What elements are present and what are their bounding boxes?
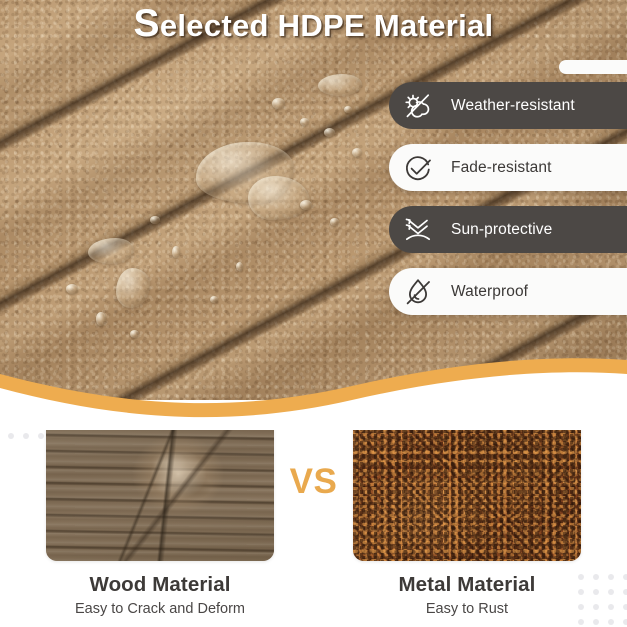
water-drop-slash-icon (402, 276, 434, 308)
feature-badge-list: Weather-resistant Fade-resistant (389, 82, 627, 330)
feature-badge-label: Fade-resistant (451, 159, 551, 177)
feature-badge-label: Sun-protective (451, 221, 552, 239)
feature-badge-waterproof[interactable]: Waterproof (389, 268, 627, 315)
water-droplet (300, 200, 312, 210)
comparison-card-subtitle: Easy to Rust (353, 601, 581, 617)
comparison-card-metal: Metal Material Easy to Rust (353, 406, 581, 617)
comparison-card-subtitle: Easy to Crack and Deform (46, 601, 274, 617)
water-droplet (324, 128, 335, 137)
page-title-rest: elected HDPE Material (160, 8, 494, 43)
comparison-card-wood: Wood Material Easy to Crack and Deform (46, 406, 274, 617)
water-droplet (330, 218, 339, 226)
water-droplet (150, 216, 160, 224)
infographic-page: Selected HDPE Material Weather-resistant (0, 0, 627, 627)
badge-sliver (559, 60, 627, 74)
water-droplet (66, 284, 78, 294)
comparison-card-title: Wood Material (46, 573, 274, 597)
uv-rays-shield-icon (402, 214, 434, 246)
feature-badge-weather-resistant[interactable]: Weather-resistant (389, 82, 627, 129)
water-droplet (272, 98, 285, 109)
water-droplet (96, 312, 106, 326)
page-title: Selected HDPE Material (0, 8, 627, 44)
check-circle-icon (402, 152, 434, 184)
sun-cloud-slash-icon (402, 90, 434, 122)
water-droplet (352, 148, 362, 157)
water-droplet (210, 296, 218, 303)
feature-badge-label: Waterproof (451, 283, 528, 301)
water-droplet (300, 118, 309, 126)
water-droplet (130, 330, 139, 338)
orange-wave-divider (0, 340, 627, 430)
page-title-initial: S (134, 2, 160, 45)
water-droplet (172, 246, 180, 258)
comparison-card-title: Metal Material (353, 573, 581, 597)
water-droplet (236, 262, 243, 271)
vs-label: VS (270, 462, 357, 502)
water-droplet (344, 106, 352, 113)
feature-badge-label: Weather-resistant (451, 97, 575, 115)
feature-badge-fade-resistant[interactable]: Fade-resistant (389, 144, 627, 191)
material-comparison: Wood Material Easy to Crack and Deform V… (0, 400, 627, 627)
feature-badge-sun-protective[interactable]: Sun-protective (389, 206, 627, 253)
